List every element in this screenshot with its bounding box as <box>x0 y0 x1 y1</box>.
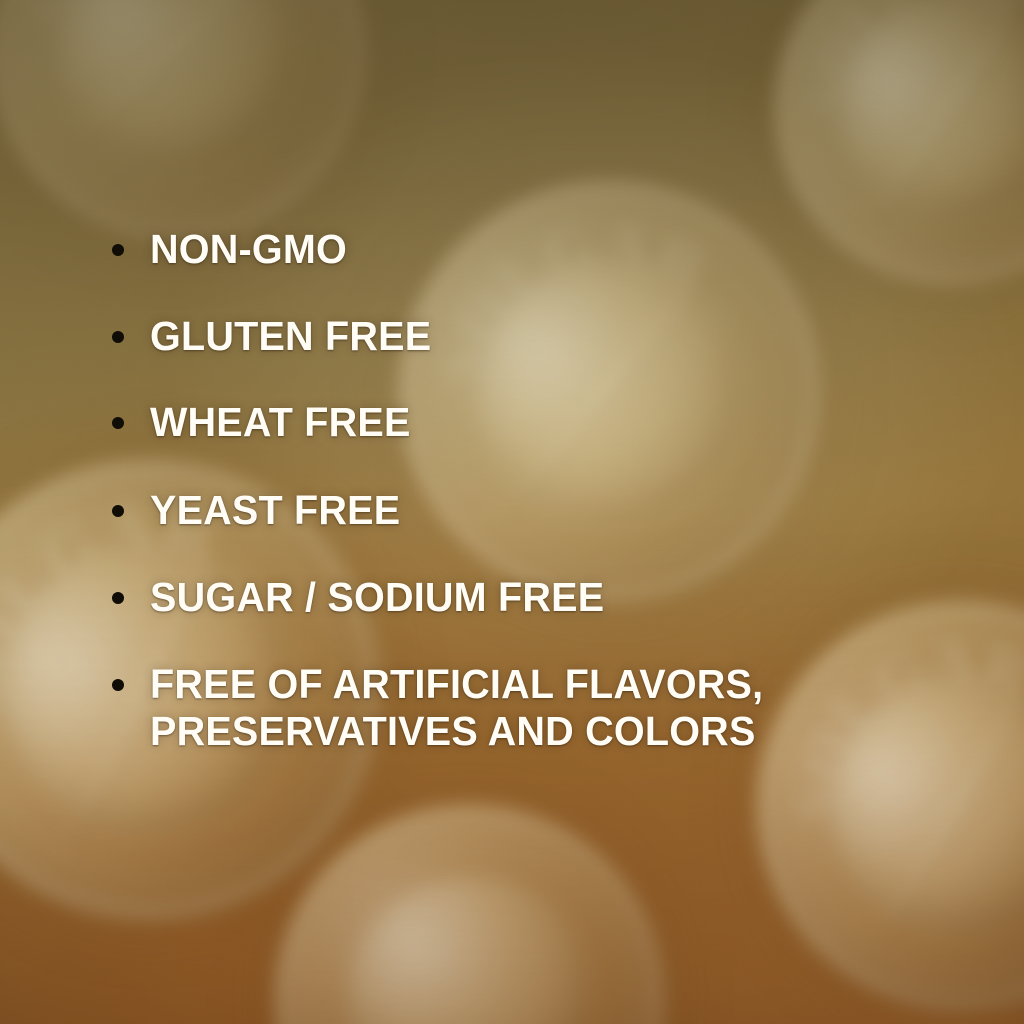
claim-wheat-free: WHEAT FREE <box>112 399 420 446</box>
claim-no-artificials: FREE OF ARTIFICIAL FLAVORS, PRESERVATIVE… <box>112 661 786 755</box>
claim-label: GLUTEN FREE <box>150 313 431 360</box>
claim-label: WHEAT FREE <box>150 399 411 446</box>
claim-label: FREE OF ARTIFICIAL FLAVORS, PRESERVATIVE… <box>150 661 763 755</box>
bullet-point-icon <box>112 244 124 256</box>
claim-yeast-free: YEAST FREE <box>112 487 409 534</box>
product-claims-graphic: SOLGARSOLGARSOLGARSOLGARSOLGAR NON-GMOGL… <box>0 0 1024 1024</box>
claim-label: SUGAR / SODIUM FREE <box>150 574 604 621</box>
claim-non-gmo: NON-GMO <box>112 226 354 273</box>
claim-label: YEAST FREE <box>150 487 400 534</box>
claim-sugar-sodium-free: SUGAR / SODIUM FREE <box>112 574 621 621</box>
bullet-point-icon <box>112 592 124 604</box>
claim-label: NON-GMO <box>150 226 347 273</box>
bullet-point-icon <box>112 505 124 517</box>
bullet-point-icon <box>112 679 124 691</box>
bullet-point-icon <box>112 331 124 343</box>
bullet-point-icon <box>112 417 124 429</box>
claim-gluten-free: GLUTEN FREE <box>112 313 441 360</box>
